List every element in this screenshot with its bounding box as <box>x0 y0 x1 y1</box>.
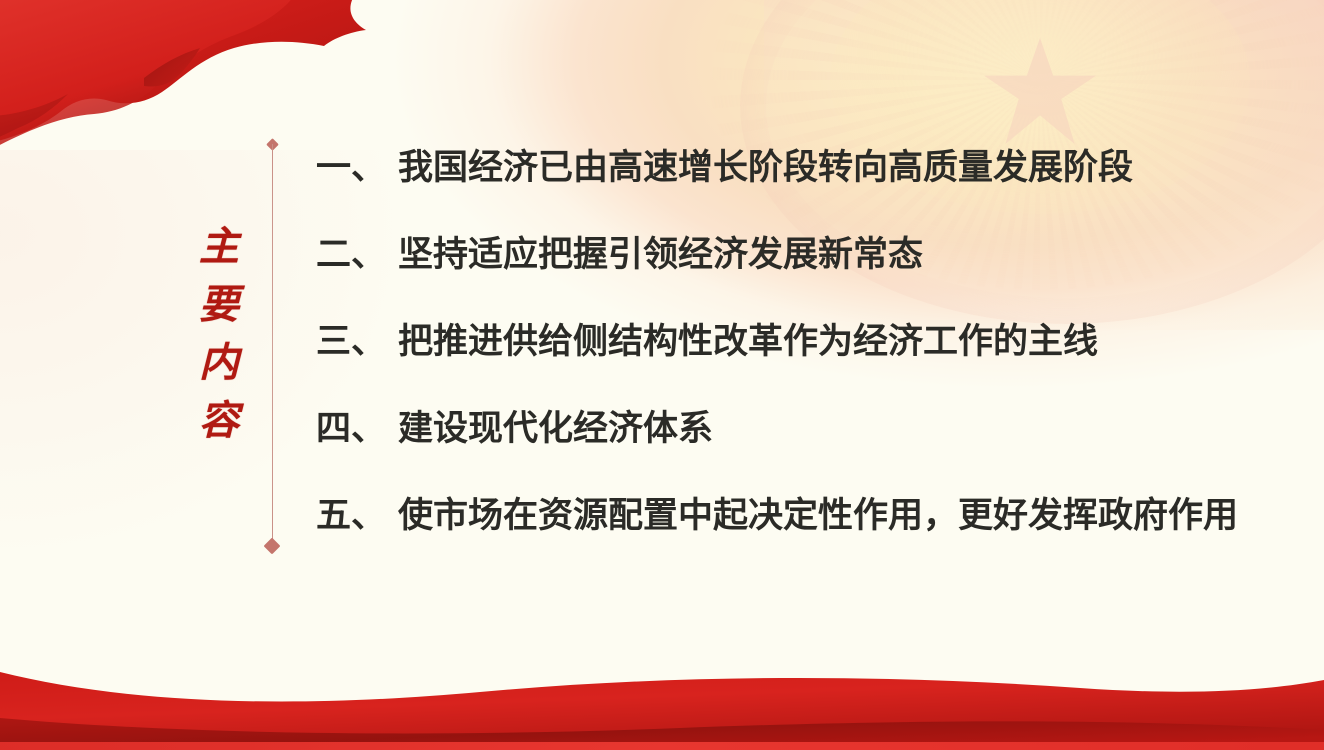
list-item-number: 二、 <box>316 233 386 277</box>
wave-highlight-edge <box>0 742 1324 750</box>
section-title-vertical: 主 要 内 容 <box>188 218 250 450</box>
list-item-label: 把推进供给侧结构性改革作为经济工作的主线 <box>398 320 1098 364</box>
list-item-number: 三、 <box>316 320 386 364</box>
contents-list: 一、 我国经济已由高速增长阶段转向高质量发展阶段 二、 坚持适应把握引领经济发展… <box>316 146 1306 538</box>
title-char-1: 主 <box>188 218 250 276</box>
ribbon-upper-fold <box>0 0 294 148</box>
list-item-label: 使市场在资源配置中起决定性作用，更好发挥政府作用 <box>398 494 1238 538</box>
list-item-number: 四、 <box>316 407 386 451</box>
list-item[interactable]: 一、 我国经济已由高速增长阶段转向高质量发展阶段 <box>316 146 1306 190</box>
vertical-divider-line <box>272 144 273 546</box>
list-item[interactable]: 二、 坚持适应把握引领经济发展新常态 <box>316 233 1306 277</box>
list-item-label: 建设现代化经济体系 <box>398 407 713 451</box>
red-wave-ribbon-bottom <box>0 630 1324 750</box>
title-char-2: 要 <box>188 276 250 334</box>
list-item[interactable]: 五、 使市场在资源配置中起决定性作用，更好发挥政府作用 <box>316 494 1306 538</box>
list-item[interactable]: 三、 把推进供给侧结构性改革作为经济工作的主线 <box>316 320 1306 364</box>
presentation-slide: 主 要 内 容 一、 我国经济已由高速增长阶段转向高质量发展阶段 二、 坚持适应… <box>0 0 1324 750</box>
list-item-label: 坚持适应把握引领经济发展新常态 <box>398 233 923 277</box>
list-item[interactable]: 四、 建设现代化经济体系 <box>316 407 1306 451</box>
list-item-label: 我国经济已由高速增长阶段转向高质量发展阶段 <box>398 146 1133 190</box>
list-item-number: 一、 <box>316 146 386 190</box>
title-char-4: 容 <box>188 392 250 450</box>
list-item-number: 五、 <box>316 494 386 538</box>
title-char-3: 内 <box>188 334 250 392</box>
